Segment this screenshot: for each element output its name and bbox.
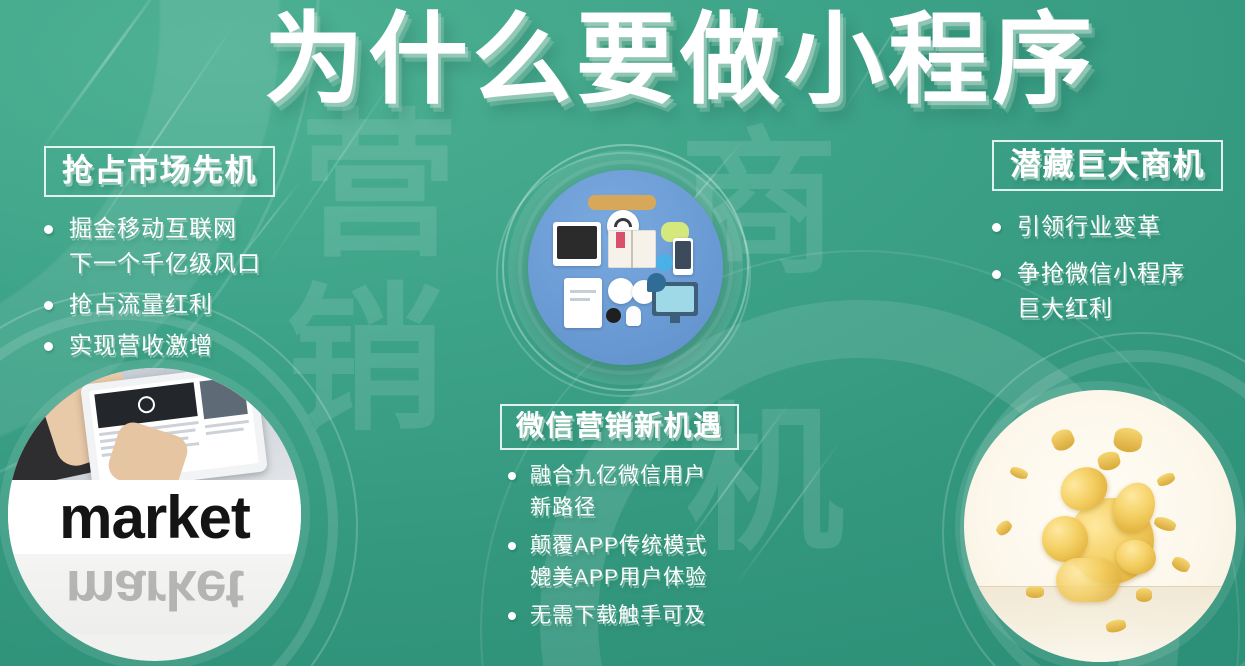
bullet-line: 实现营收激增 [69, 328, 213, 363]
bullet-line: 颠覆APP传统模式 [530, 530, 707, 562]
panel-top-right-header: 潜藏巨大商机 [1010, 149, 1205, 180]
bullet-dot-icon [508, 612, 516, 620]
clipboard-icon [564, 278, 602, 328]
market-caption-mirror: market [66, 558, 244, 623]
coin-flat [1112, 426, 1144, 454]
pencil-icon [608, 278, 634, 304]
bullet-dot-icon [508, 472, 516, 480]
bullet-dot-icon [44, 301, 53, 310]
bullet-line: 争抢微信小程序 [1017, 256, 1185, 291]
bullet-dot-icon [508, 542, 516, 550]
watermark-char-2: 销 [286, 282, 444, 440]
camera-lens-icon [606, 308, 621, 323]
bullet-line: 无需下载触手可及 [530, 600, 706, 632]
screen-image-block [200, 376, 248, 419]
smartphone-screen [675, 241, 691, 269]
bullet-line: 新路径 [530, 492, 706, 524]
bullet-dot-icon [992, 270, 1001, 279]
book-bookmark [616, 232, 625, 248]
banner-chip-icon [588, 195, 656, 210]
list-item: 融合九亿微信用户 新路径 [508, 460, 739, 524]
list-item: 掘金移动互联网 下一个千亿级风口 [44, 211, 275, 281]
book-spine [631, 230, 633, 268]
coin-flat [994, 518, 1014, 537]
panel-bottom-center: 微信营销新机遇 融合九亿微信用户 新路径 颠覆APP传统模式 媲美APP用户体验 [500, 404, 739, 638]
tablet-photo [8, 368, 301, 480]
tablet-screen [557, 226, 597, 259]
market-caption-reflection: market [8, 554, 301, 634]
coin-flat [1049, 426, 1077, 453]
panel-bottom-center-header: 微信营销新机遇 [516, 412, 723, 440]
monitor-stand [670, 316, 680, 323]
panel-top-right-header-box: 潜藏巨大商机 [992, 140, 1223, 191]
watermark-char-1: 营 [300, 108, 458, 266]
bullet-line: 掘金移动互联网 [69, 211, 261, 246]
coin-flat [1136, 588, 1152, 602]
panel-top-right-bullets: 引领行业变革 争抢微信小程序 巨大红利 [992, 209, 1223, 326]
market-caption-band: market [8, 480, 301, 554]
twitter-bird-icon [656, 254, 673, 271]
tablet-reading-photo-circle: market market [8, 368, 301, 661]
poster-canvas: 营 销 商 机 为什么要做小程序 抢占市场 [0, 0, 1245, 666]
coin-flat [1153, 515, 1178, 533]
panel-top-left: 抢占市场先机 掘金移动互联网 下一个千亿级风口 抢占流量红利 实现营收激增 [44, 146, 275, 369]
bullet-line: 下一个千亿级风口 [69, 246, 261, 281]
coin-flat [1096, 450, 1122, 473]
list-item: 颠覆APP传统模式 媲美APP用户体验 [508, 530, 739, 594]
bullet-line: 巨大红利 [1017, 291, 1185, 326]
market-caption: market [59, 483, 250, 552]
panel-top-left-bullets: 掘金移动互联网 下一个千亿级风口 抢占流量红利 实现营收激增 [44, 211, 275, 363]
panel-top-left-header: 抢占市场先机 [62, 155, 257, 186]
coin-flat [1156, 471, 1177, 488]
coin-pile [1056, 558, 1120, 602]
coin [1042, 516, 1088, 562]
panel-top-left-header-box: 抢占市场先机 [44, 146, 275, 197]
list-item: 实现营收激增 [44, 328, 275, 363]
info-badge-icon [647, 273, 666, 292]
panel-bottom-center-bullets: 融合九亿微信用户 新路径 颠覆APP传统模式 媲美APP用户体验 无需下载触手可… [508, 460, 739, 632]
bullet-line: 引领行业变革 [1017, 209, 1161, 244]
bullet-dot-icon [44, 225, 53, 234]
coin-flat [1009, 465, 1029, 481]
clipboard-line-1 [570, 290, 596, 293]
lightbulb-icon [626, 306, 641, 326]
list-item: 抢占流量红利 [44, 287, 275, 322]
list-item: 争抢微信小程序 巨大红利 [992, 256, 1223, 326]
bullet-dot-icon [44, 342, 53, 351]
panel-top-right: 潜藏巨大商机 引领行业变革 争抢微信小程序 巨大红利 [992, 140, 1223, 332]
bullet-dot-icon [992, 223, 1001, 232]
list-item: 无需下载触手可及 [508, 600, 739, 632]
page-title: 为什么要做小程序 [264, 6, 1096, 114]
bullet-line: 抢占流量红利 [69, 287, 213, 322]
gold-coins-photo-circle [964, 390, 1236, 662]
bullet-line: 融合九亿微信用户 [530, 460, 706, 492]
light-streak-1 [35, 0, 173, 158]
light-streak-6 [734, 440, 841, 587]
coin-flat [1170, 555, 1192, 575]
panel-bottom-center-header-box: 微信营销新机遇 [500, 404, 739, 450]
clipboard-line-2 [570, 298, 590, 301]
screen-text-line [206, 428, 244, 436]
list-item: 引领行业变革 [992, 209, 1223, 244]
bullet-line: 媲美APP用户体验 [530, 562, 707, 594]
coin-flat [1026, 586, 1044, 598]
center-illustration-circle [528, 170, 723, 365]
